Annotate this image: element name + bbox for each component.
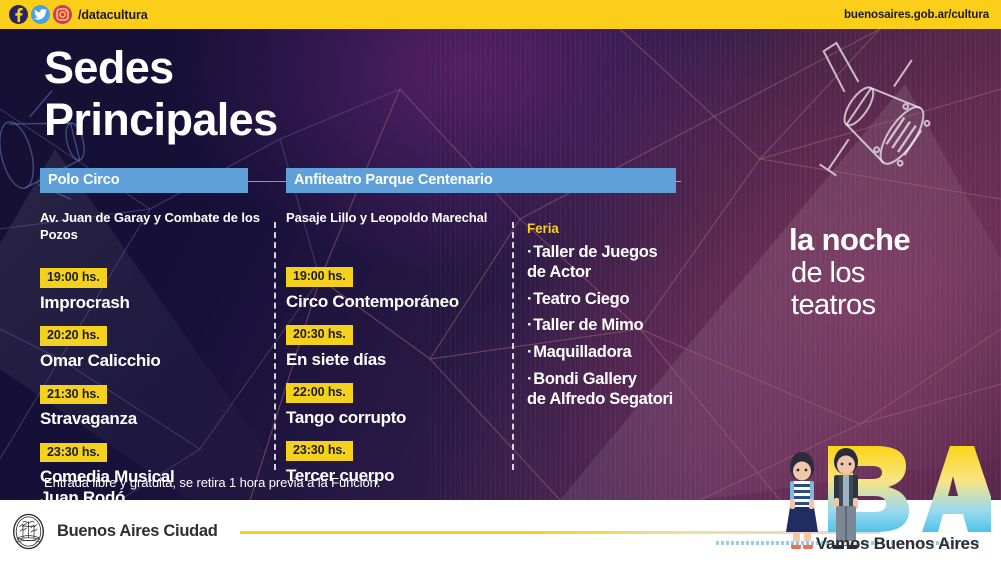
- site-url[interactable]: buenosaires.gob.ar/cultura: [844, 9, 989, 21]
- gcba-logo-lockup: Buenos Aires Ciudad: [10, 513, 218, 550]
- top-social-bar: /datacultura buenosaires.gob.ar/cultura: [0, 0, 1001, 29]
- feria-list-item: ·Teatro Ciego: [527, 290, 757, 310]
- feria-list-item: ·Taller de Juegos de Actor: [527, 243, 757, 283]
- instagram-icon[interactable]: [53, 5, 72, 24]
- bullet-icon: ·: [527, 343, 532, 361]
- page-title-line1: Sedes: [44, 42, 278, 94]
- feria-item-label: Taller de Mimo: [533, 316, 643, 334]
- vamos-buenos-aires-logo: Vamos Buenos Aires: [716, 440, 991, 560]
- buenos-aires-shield-icon: [10, 513, 47, 550]
- page-title-line2: Principales: [44, 94, 278, 146]
- venue-column-polo-circo: Polo Circo Av. Juan de Garay y Combate d…: [40, 168, 272, 500]
- show-time-badge: 20:20 hs.: [40, 326, 107, 345]
- event-logo-line2: de los: [791, 257, 910, 289]
- feria-item-label: Taller de Juegos de Actor: [527, 243, 657, 281]
- schedule-list: 19:00 hs. Circo Contemporáneo 20:30 hs. …: [286, 267, 508, 486]
- facebook-icon[interactable]: [9, 5, 28, 24]
- show-time-badge: 23:30 hs.: [286, 441, 353, 460]
- bullet-icon: ·: [527, 290, 532, 308]
- vamos-label: Vamos Buenos Aires: [816, 534, 979, 554]
- schedule-item: 21:30 hs. Stravaganza: [40, 385, 272, 430]
- poster-canvas: /datacultura buenosaires.gob.ar/cultura: [0, 0, 1001, 563]
- bullet-icon: ·: [527, 370, 532, 388]
- venue-address: Pasaje Lillo y Leopoldo Marechal: [286, 209, 508, 226]
- show-title: En siete días: [286, 350, 508, 371]
- show-title: Stravaganza: [40, 409, 272, 430]
- venue-column-anfiteatro: Anfiteatro Parque Centenario Pasaje Lill…: [286, 168, 508, 487]
- schedule-item: 20:20 hs. Omar Calicchio: [40, 326, 272, 371]
- show-time-badge: 19:00 hs.: [40, 268, 107, 287]
- feria-list-item: ·Bondi Gallery de Alfredo Segatori: [527, 370, 757, 410]
- feria-item-label: Bondi Gallery de Alfredo Segatori: [527, 370, 673, 408]
- show-title: Circo Contemporáneo: [286, 292, 508, 313]
- venue-address: Av. Juan de Garay y Combate de los Pozos: [40, 209, 272, 243]
- page-title: Sedes Principales: [44, 42, 278, 146]
- show-time-badge: 21:30 hs.: [40, 385, 107, 404]
- column-divider-1: [274, 222, 276, 470]
- show-time-badge: 19:00 hs.: [286, 267, 353, 286]
- feria-heading: Feria: [527, 221, 757, 236]
- social-handle[interactable]: /datacultura: [78, 8, 148, 22]
- event-logo-line1: la noche: [789, 224, 910, 257]
- twitter-icon[interactable]: [31, 5, 50, 24]
- admission-note: Entrada libre y gratuita, se retira 1 ho…: [44, 475, 380, 490]
- feria-list-item: ·Maquilladora: [527, 343, 757, 363]
- feria-item-label: Maquilladora: [533, 343, 631, 361]
- gcba-label: Buenos Aires Ciudad: [57, 522, 218, 541]
- schedule-item: 19:00 hs. Circo Contemporáneo: [286, 267, 508, 312]
- column-divider-2: [512, 222, 514, 470]
- poster-artwork: Sedes Principales Polo Circo Av. Juan de…: [0, 29, 1001, 500]
- feria-list-item: ·Taller de Mimo: [527, 316, 757, 336]
- footer-bar: Buenos Aires Ciudad: [0, 500, 1001, 563]
- venue-name-banner: Polo Circo: [40, 168, 248, 193]
- bullet-icon: ·: [527, 316, 532, 334]
- schedule-item: 19:00 hs. Improcrash: [40, 268, 272, 313]
- show-time-badge: 23:30 hs.: [40, 443, 107, 462]
- schedule-item: 23:30 hs. Comedia Musical Juan Rodó: [40, 443, 272, 500]
- show-title: Tango corrupto: [286, 408, 508, 429]
- schedule-list: 19:00 hs. Improcrash 20:20 hs. Omar Cali…: [40, 268, 272, 500]
- show-time-badge: 22:00 hs.: [286, 383, 353, 402]
- bullet-icon: ·: [527, 243, 532, 261]
- show-time-badge: 20:30 hs.: [286, 325, 353, 344]
- show-title: Omar Calicchio: [40, 351, 272, 372]
- girl-figure-icon: [786, 452, 818, 549]
- feria-column: Feria ·Taller de Juegos de Actor ·Teatro…: [527, 221, 757, 410]
- event-logo: la noche de los teatros: [789, 224, 910, 321]
- venue-name-banner: Anfiteatro Parque Centenario: [286, 168, 676, 193]
- show-title: Improcrash: [40, 293, 272, 314]
- feria-item-label: Teatro Ciego: [533, 290, 629, 308]
- schedule-item: 20:30 hs. En siete días: [286, 325, 508, 370]
- schedule-item: 22:00 hs. Tango corrupto: [286, 383, 508, 428]
- event-logo-line3: teatros: [791, 289, 910, 321]
- social-icon-group: /datacultura: [9, 5, 148, 24]
